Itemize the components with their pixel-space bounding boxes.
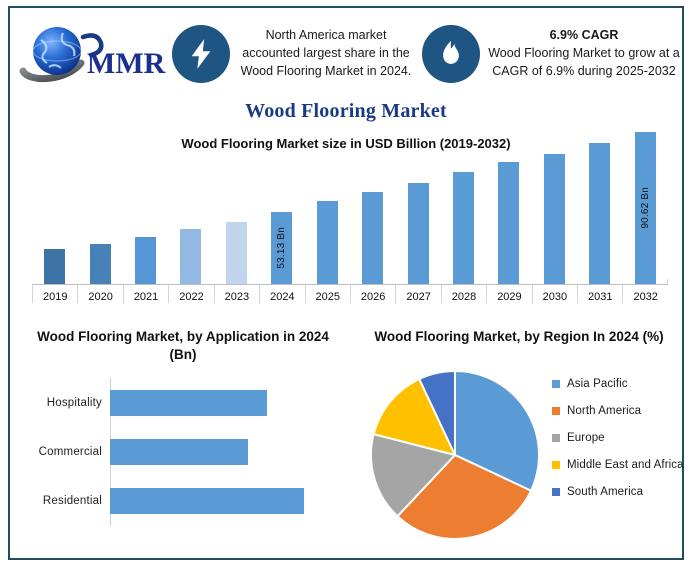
- legend-item: North America: [552, 405, 674, 417]
- flame-badge: [422, 25, 480, 83]
- bar-column: 90.62 Bn: [622, 162, 667, 284]
- application-bar-row: Hospitality: [110, 390, 304, 416]
- application-bar: [110, 390, 267, 416]
- infographic-root: MMR North America market accounted large…: [0, 0, 692, 566]
- legend-item: South America: [552, 486, 674, 498]
- pie-legend: Asia PacificNorth AmericaEuropeMiddle Ea…: [552, 378, 674, 513]
- application-bar: [110, 439, 248, 465]
- bar: [453, 172, 474, 284]
- infographic-frame: MMR North America market accounted large…: [8, 6, 684, 560]
- application-series: HospitalityCommercialResidential: [110, 378, 304, 526]
- logo-text: MMR: [87, 47, 166, 80]
- x-axis-label: 2022: [168, 285, 213, 303]
- globe-icon: MMR: [19, 23, 169, 85]
- bar-column: [305, 162, 350, 284]
- legend-label: Middle East and Africa: [567, 459, 684, 471]
- application-bar-row: Residential: [110, 488, 304, 514]
- bar: [44, 249, 65, 284]
- application-bar: [110, 488, 304, 514]
- stat-right-block: 6.9% CAGR Wood Flooring Market to grow a…: [482, 27, 686, 80]
- bar-column: [77, 162, 122, 284]
- x-axis-label: 2024: [259, 285, 304, 303]
- bar: [226, 222, 247, 284]
- legend-swatch: [552, 434, 560, 442]
- x-axis-label: 2031: [577, 285, 622, 303]
- bar-chart-plot: 53.13 Bn90.62 Bn: [32, 162, 668, 284]
- bar: 53.13 Bn: [271, 212, 292, 284]
- x-axis-label: 2025: [305, 285, 350, 303]
- x-axis-label: 2027: [395, 285, 440, 303]
- x-axis-label: 2028: [441, 285, 486, 303]
- legend-swatch: [552, 407, 560, 415]
- stat-left-text: North America market accounted largest s…: [232, 27, 420, 80]
- legend-item: Asia Pacific: [552, 378, 674, 390]
- cagr-heading: 6.9% CAGR: [486, 27, 682, 45]
- market-size-bar-chart: Wood Flooring Market size in USD Billion…: [10, 132, 682, 318]
- bar: [544, 154, 565, 284]
- bar: [317, 201, 338, 284]
- application-bar-label: Hospitality: [47, 397, 110, 409]
- lightning-badge: [172, 25, 230, 83]
- x-axis-label: 2032: [622, 285, 667, 303]
- bar-column: 53.13 Bn: [259, 162, 304, 284]
- application-bar-label: Commercial: [39, 446, 110, 458]
- legend-swatch: [552, 380, 560, 388]
- x-axis-label: 2023: [214, 285, 259, 303]
- x-axis-label: 2029: [486, 285, 531, 303]
- x-axis-label: 2020: [77, 285, 122, 303]
- pie-svg: [370, 370, 540, 540]
- application-bar-label: Residential: [43, 495, 110, 507]
- bar-column: [32, 162, 77, 284]
- bar-value-label: 90.62 Bn: [640, 187, 651, 229]
- application-bar-row: Commercial: [110, 439, 304, 465]
- legend-label: Asia Pacific: [567, 378, 628, 390]
- bar-column: [123, 162, 168, 284]
- bar-column: [214, 162, 259, 284]
- bar-column: [395, 162, 440, 284]
- bar-column: [441, 162, 486, 284]
- region-pie-chart: Wood Flooring Market, by Region In 2024 …: [356, 320, 682, 558]
- legend-swatch: [552, 461, 560, 469]
- header-bar: MMR North America market accounted large…: [10, 8, 682, 100]
- bar: [362, 192, 383, 284]
- x-axis-label: 2030: [532, 285, 577, 303]
- bottom-charts-row: Wood Flooring Market, by Application in …: [10, 320, 682, 558]
- bar-chart-x-labels: 2019202020212022202320242025202620272028…: [32, 285, 668, 303]
- bar: 90.62 Bn: [635, 132, 656, 284]
- x-axis-label: 2026: [350, 285, 395, 303]
- bar-column: [532, 162, 577, 284]
- application-bar-chart: Wood Flooring Market, by Application in …: [10, 320, 356, 558]
- legend-label: South America: [567, 486, 643, 498]
- bar-series: 53.13 Bn90.62 Bn: [32, 162, 668, 284]
- bar: [408, 183, 429, 284]
- legend-swatch: [552, 488, 560, 496]
- bar-value-label: 53.13 Bn: [276, 227, 287, 269]
- x-axis-label: 2019: [32, 285, 77, 303]
- pie-area: [370, 370, 540, 540]
- bar-column: [350, 162, 395, 284]
- bar: [180, 229, 201, 284]
- page-title: Wood Flooring Market: [10, 100, 682, 123]
- application-plot: HospitalityCommercialResidential: [110, 378, 304, 526]
- lightning-bolt-icon: [184, 37, 218, 71]
- x-axis-label: 2021: [123, 285, 168, 303]
- application-chart-title: Wood Flooring Market, by Application in …: [10, 320, 356, 364]
- bar-chart-title: Wood Flooring Market size in USD Billion…: [10, 136, 682, 151]
- stat-right-text: Wood Flooring Market to grow at a CAGR o…: [488, 46, 680, 78]
- bar-column: [486, 162, 531, 284]
- bar: [90, 244, 111, 284]
- legend-item: Europe: [552, 432, 674, 444]
- bar: [135, 237, 156, 284]
- legend-item: Middle East and Africa: [552, 459, 674, 471]
- bar: [589, 143, 610, 284]
- bar-column: [577, 162, 622, 284]
- flame-icon: [435, 38, 467, 70]
- bar-column: [168, 162, 213, 284]
- legend-label: Europe: [567, 432, 605, 444]
- bar: [498, 162, 519, 284]
- legend-label: North America: [567, 405, 641, 417]
- mmr-logo: MMR: [18, 13, 170, 95]
- region-chart-title: Wood Flooring Market, by Region In 2024 …: [356, 320, 682, 346]
